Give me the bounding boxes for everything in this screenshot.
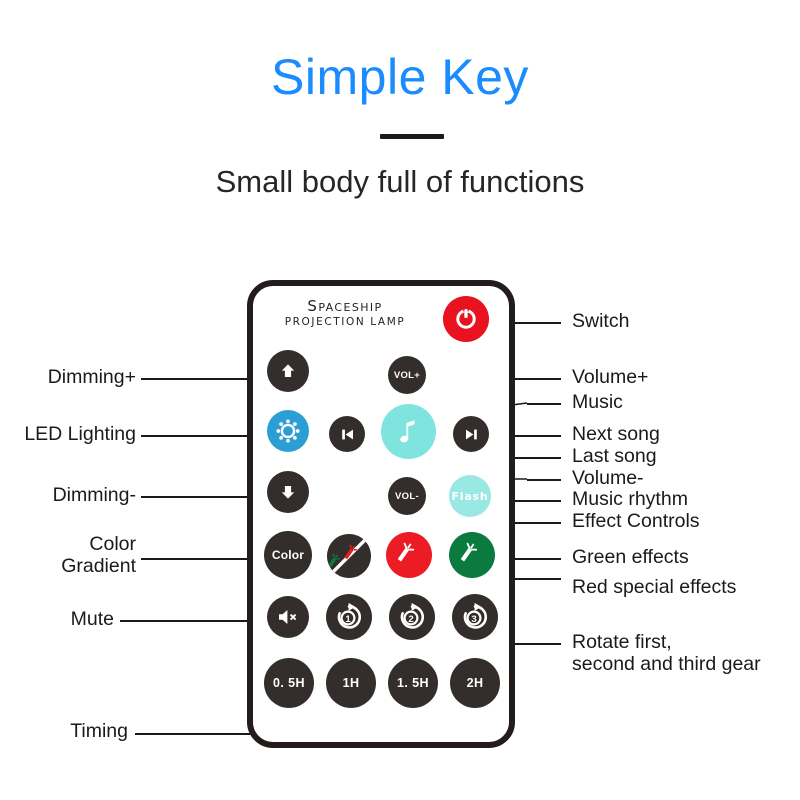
- callout-music: Music: [572, 392, 623, 414]
- dimming-down-button[interactable]: [267, 471, 309, 513]
- rotate-second-gear-button[interactable]: 2: [389, 594, 435, 640]
- volume-up-button[interactable]: VOL+: [388, 356, 426, 394]
- timer-one-hour-button[interactable]: 1H: [326, 658, 376, 708]
- callout-last-song: Last song: [572, 446, 657, 468]
- timer-label: 1H: [343, 676, 360, 690]
- callout-effect-controls: Effect Controls: [572, 511, 700, 533]
- timer-one-half-hour-button[interactable]: 1. 5H: [388, 658, 438, 708]
- led-lighting-button[interactable]: [267, 410, 309, 452]
- brand-tagline: projection lamp: [253, 316, 437, 328]
- callout-dimming-plus: Dimming+: [0, 367, 136, 389]
- split-effect-icon: [327, 534, 371, 578]
- next-song-button[interactable]: [453, 416, 489, 452]
- callout-led-lighting: LED Lighting: [0, 424, 136, 446]
- timer-two-hour-button[interactable]: 2H: [450, 658, 500, 708]
- prev-track-icon: [339, 426, 356, 443]
- brand-name: Spaceship: [253, 298, 437, 316]
- dimming-up-button[interactable]: [267, 350, 309, 392]
- power-button[interactable]: [443, 296, 489, 342]
- volume-down-label: VOL-: [395, 491, 419, 502]
- flash-label: Flash: [451, 490, 488, 503]
- callout-red-effects: Red special effects: [572, 577, 736, 599]
- timer-half-hour-button[interactable]: 0. 5H: [264, 658, 314, 708]
- rotate-icon: 3: [460, 602, 490, 632]
- mute-button[interactable]: [267, 596, 309, 638]
- callout-color-gradient: Color Gradient: [0, 534, 136, 578]
- volume-down-button[interactable]: VOL-: [388, 477, 426, 515]
- music-note-icon: [394, 417, 424, 447]
- callout-volume-minus: Volume-: [572, 468, 644, 490]
- led-sun-icon: [275, 418, 301, 444]
- rotate-icon: 2: [397, 602, 427, 632]
- volume-up-label: VOL+: [394, 370, 420, 381]
- red-effect-button[interactable]: [386, 532, 432, 578]
- callout-mute: Mute: [0, 609, 114, 631]
- flashlight-icon: [396, 542, 422, 568]
- last-song-button[interactable]: [329, 416, 365, 452]
- flash-button[interactable]: Flash: [449, 475, 491, 517]
- power-icon: [453, 306, 479, 332]
- flashlight-icon: [459, 542, 485, 568]
- effect-control-button[interactable]: [327, 534, 371, 578]
- svg-text:2: 2: [408, 614, 413, 625]
- arrow-down-icon: [279, 483, 297, 501]
- callout-green-effects: Green effects: [572, 547, 689, 569]
- svg-text:1: 1: [345, 614, 351, 625]
- callout-switch: Switch: [572, 311, 629, 333]
- callout-rotate-gears: Rotate first, second and third gear: [572, 632, 761, 676]
- next-track-icon: [463, 426, 480, 443]
- rotate-icon: 1: [334, 602, 364, 632]
- remote-control-body: Spaceship projection lamp: [247, 280, 515, 748]
- callout-volume-plus: Volume+: [572, 367, 648, 389]
- infographic-canvas: Simple Key Small body full of functions …: [0, 0, 800, 800]
- callout-timing: Timing: [0, 721, 128, 743]
- color-button[interactable]: Color: [264, 531, 312, 579]
- music-button[interactable]: [381, 404, 436, 459]
- callout-next-song: Next song: [572, 424, 660, 446]
- callout-music-rhythm: Music rhythm: [572, 489, 688, 511]
- callout-dimming-minus: Dimming-: [0, 485, 136, 507]
- rotate-third-gear-button[interactable]: 3: [452, 594, 498, 640]
- timer-label: 1. 5H: [397, 676, 429, 690]
- timer-label: 2H: [467, 676, 484, 690]
- arrow-up-icon: [279, 362, 297, 380]
- timer-label: 0. 5H: [273, 676, 305, 690]
- green-effect-button[interactable]: [449, 532, 495, 578]
- color-label: Color: [272, 548, 304, 562]
- mute-icon: [277, 607, 299, 627]
- rotate-first-gear-button[interactable]: 1: [326, 594, 372, 640]
- svg-text:3: 3: [471, 614, 476, 625]
